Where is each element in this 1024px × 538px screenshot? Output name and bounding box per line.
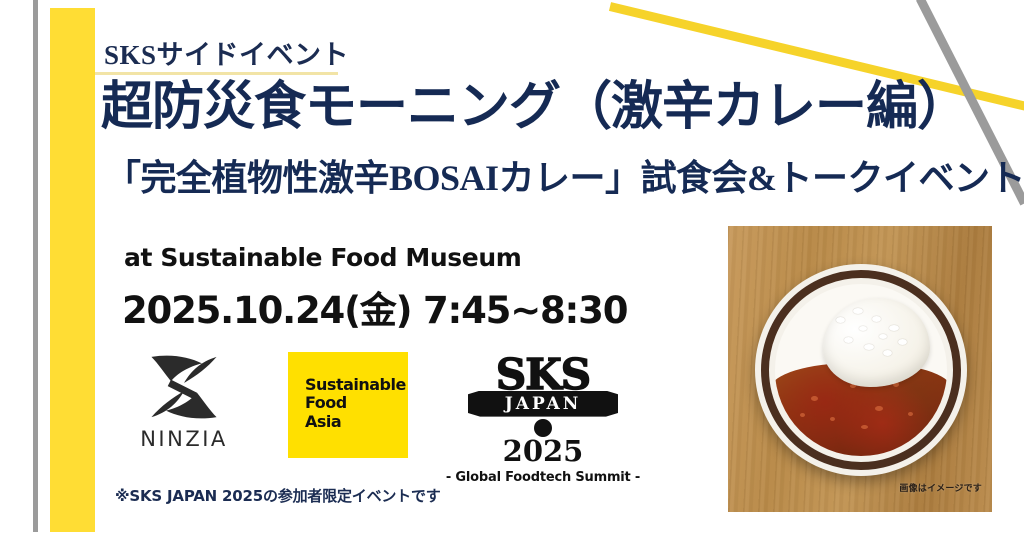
plate-well: [775, 284, 947, 456]
logo-sustainable-food-asia: Sustainable Food Asia: [288, 352, 408, 458]
logo-ninzia: NINZIA: [130, 352, 238, 451]
page-subtitle: 「完全植物性激辛BOSAIカレー」試食会&トークイベント: [105, 160, 1024, 196]
page-title: 超防災食モーニング（激辛カレー編）: [101, 81, 968, 133]
event-poster: SKSサイドイベント 超防災食モーニング（激辛カレー編） 「完全植物性激辛BOS…: [0, 0, 1024, 538]
venue-text: at Sustainable Food Museum: [124, 243, 521, 272]
sks-tagline: - Global Foodtech Summit -: [446, 470, 640, 485]
photo-caption: 画像はイメージです: [899, 481, 982, 494]
datetime-text: 2025.10.24(金) 7:45~8:30: [122, 280, 627, 334]
left-gray-rail: [33, 0, 38, 532]
sks-japan-ribbon: JAPAN: [468, 391, 618, 417]
ninzia-z-mark: [143, 352, 225, 422]
footnote-text: ※SKS JAPAN 2025の参加者限定イベントです: [115, 485, 441, 506]
plate: [755, 264, 967, 476]
sks-wordmark: SKS: [496, 356, 590, 395]
sks-year: 2025: [503, 437, 584, 466]
ninzia-wordmark: NINZIA: [140, 427, 228, 451]
logo-sks-japan-2025: SKS JAPAN 2025 - Global Foodtech Summit …: [458, 352, 628, 485]
white-rice: [823, 298, 930, 387]
sks-ribbon-text: JAPAN: [505, 394, 582, 414]
logo-row: NINZIA Sustainable Food Asia SKS JAPAN 2…: [130, 352, 628, 485]
sfa-wordmark: Sustainable Food Asia: [305, 376, 406, 431]
curry-photo: 画像はイメージです: [728, 226, 992, 512]
left-yellow-bar: [50, 8, 95, 532]
eyebrow-label: SKSサイドイベント: [104, 33, 349, 72]
eyebrow-underline: [95, 72, 338, 75]
